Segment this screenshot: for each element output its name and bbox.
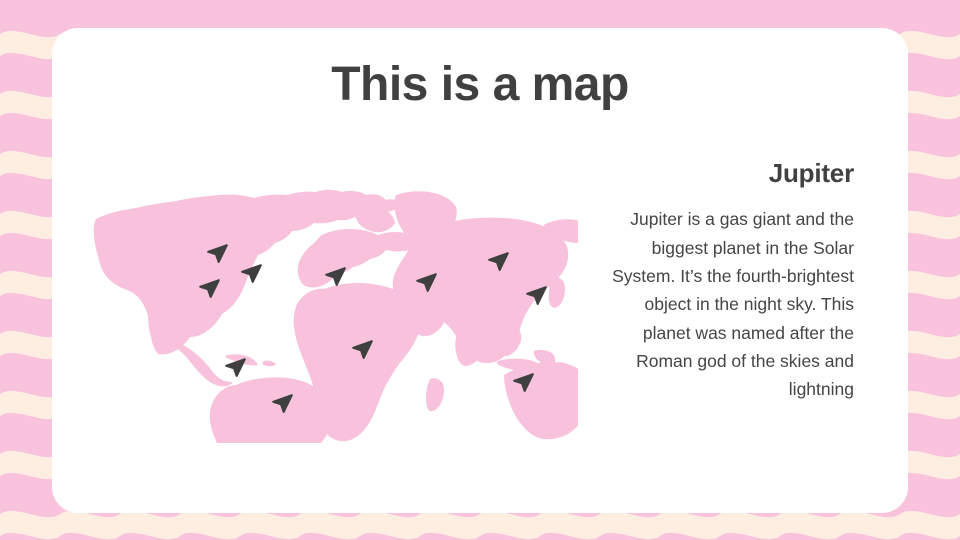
map-marker-russia[interactable]	[482, 246, 512, 276]
map-marker-east-asia[interactable]	[520, 280, 550, 310]
map-marker-europe[interactable]	[319, 261, 349, 291]
slide-card: This is a map	[52, 28, 908, 513]
map-marker-north-america-2[interactable]	[235, 258, 265, 288]
slide-canvas: This is a map	[0, 0, 960, 540]
map-marker-north-america-1[interactable]	[201, 238, 231, 268]
page-title: This is a map	[52, 56, 908, 114]
map-marker-north-america-3[interactable]	[193, 273, 223, 303]
planet-description: Jupiter is a gas giant and the biggest p…	[602, 205, 854, 403]
planet-name-heading: Jupiter	[602, 158, 854, 189]
map-marker-south-america-1[interactable]	[219, 352, 249, 382]
planet-info-block: Jupiter Jupiter is a gas giant and the b…	[602, 158, 854, 404]
map-marker-africa[interactable]	[346, 334, 376, 364]
map-marker-south-america-2[interactable]	[266, 388, 296, 418]
world-map[interactable]	[78, 183, 578, 443]
map-marker-australia[interactable]	[507, 367, 537, 397]
world-map-landmasses	[78, 183, 578, 443]
map-marker-middle-east[interactable]	[410, 267, 440, 297]
